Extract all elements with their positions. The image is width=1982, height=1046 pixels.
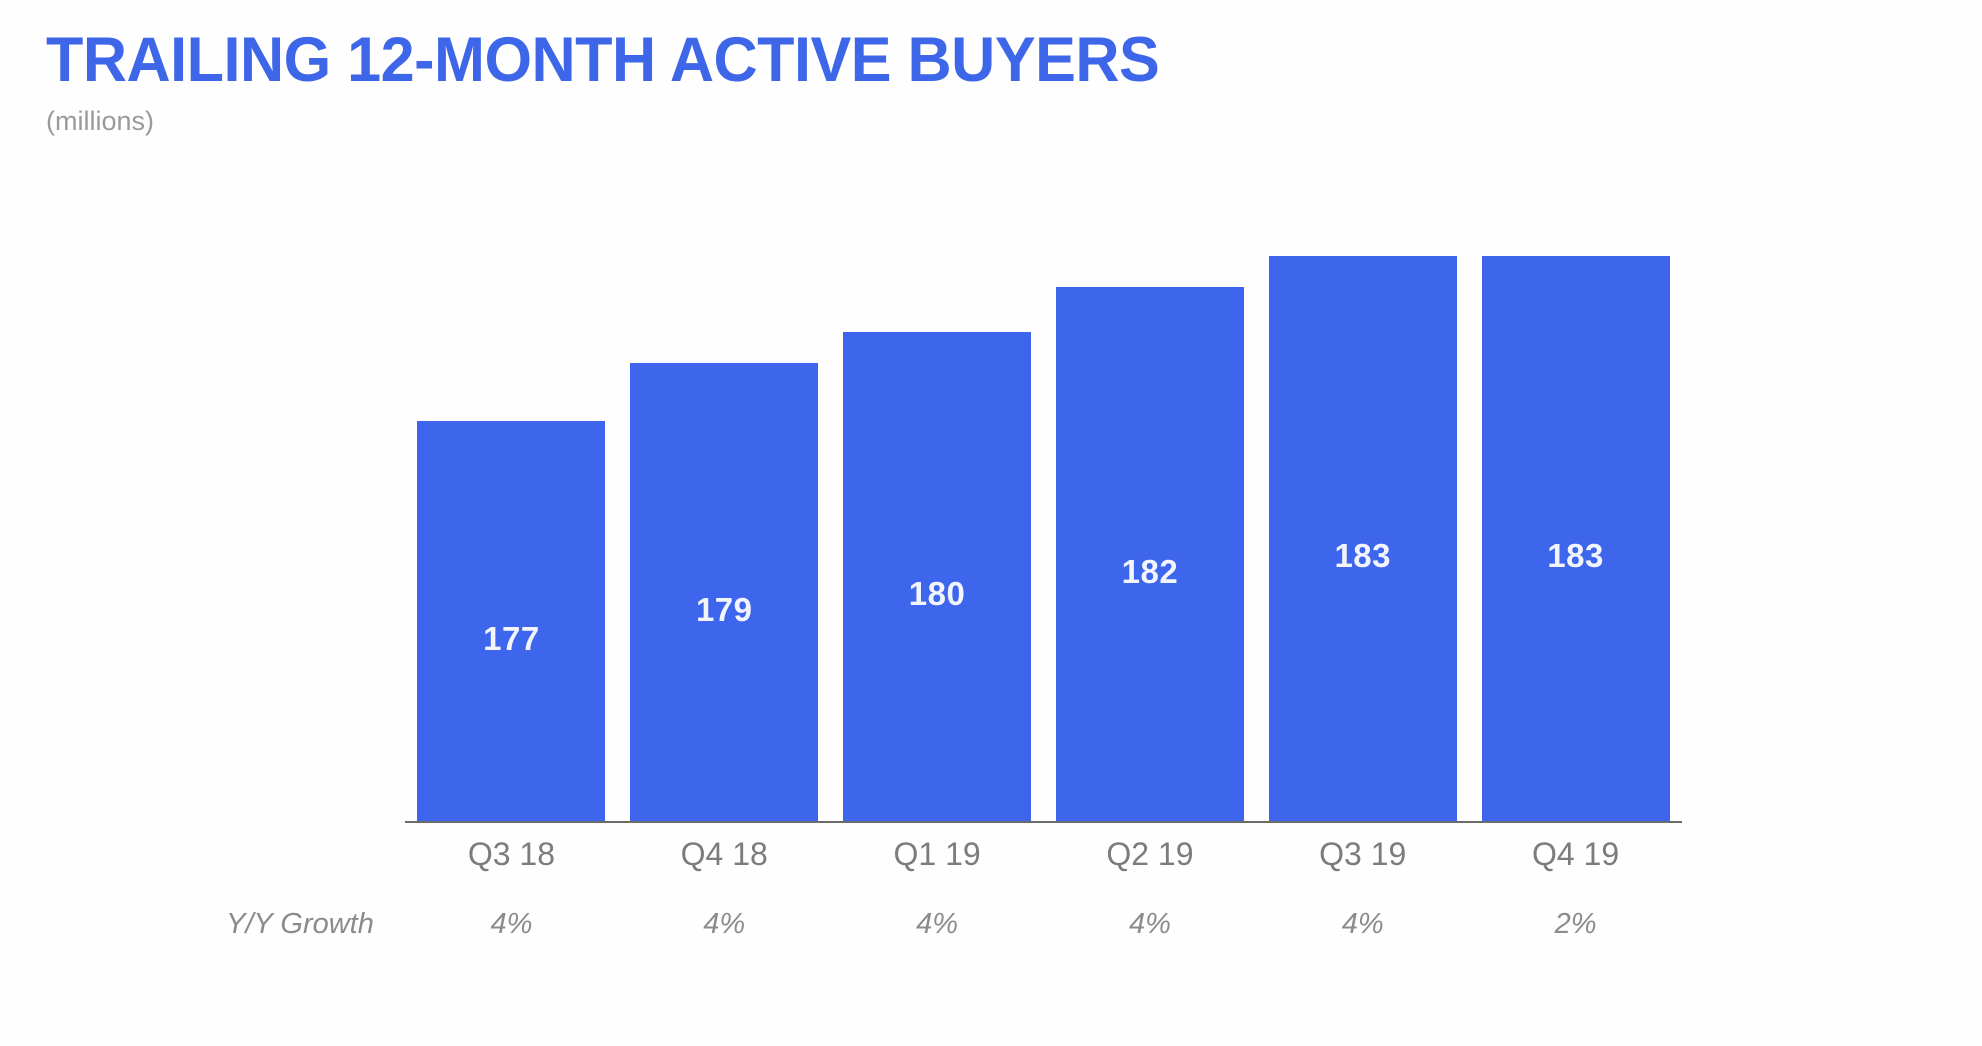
chart-subtitle: (millions) xyxy=(46,104,1846,138)
bar[interactable]: 179 xyxy=(630,363,818,822)
bar-value-label: 183 xyxy=(1482,539,1670,572)
growth-value: 4% xyxy=(831,905,1044,943)
bar-value-label: 182 xyxy=(1056,555,1244,588)
x-axis-tick-label: Q4 19 xyxy=(1469,834,1682,874)
bar[interactable]: 183 xyxy=(1482,256,1670,822)
growth-value: 4% xyxy=(618,905,831,943)
bar-slot: 183 xyxy=(1256,160,1469,822)
chart-header: TRAILING 12-MONTH ACTIVE BUYERS (million… xyxy=(46,24,1846,138)
x-axis-tick-label: Q1 19 xyxy=(831,834,1044,874)
bar-value-label: 179 xyxy=(630,593,818,626)
bar[interactable]: 180 xyxy=(843,332,1031,822)
x-axis-tick-label: Q3 18 xyxy=(405,834,618,874)
bar-value-label: 183 xyxy=(1269,539,1457,572)
x-axis-labels: Q3 18 Q4 18 Q1 19 Q2 19 Q3 19 Q4 19 xyxy=(405,834,1682,874)
bar-slot: 180 xyxy=(831,160,1044,822)
bar[interactable]: 182 xyxy=(1056,287,1244,822)
bar[interactable]: 183 xyxy=(1269,256,1457,822)
bar-slot: 183 xyxy=(1469,160,1682,822)
growth-value: 4% xyxy=(1256,905,1469,943)
bar[interactable]: 177 xyxy=(417,421,605,822)
page-title: TRAILING 12-MONTH ACTIVE BUYERS xyxy=(46,24,1792,96)
bar-series: 177 179 180 182 183 xyxy=(405,160,1682,822)
bar-value-label: 180 xyxy=(843,577,1031,610)
slide-canvas: TRAILING 12-MONTH ACTIVE BUYERS (million… xyxy=(0,0,1982,1046)
x-axis-line xyxy=(405,821,1682,823)
bar-slot: 179 xyxy=(618,160,831,822)
bar-slot: 182 xyxy=(1043,160,1256,822)
x-axis-tick-label: Q4 18 xyxy=(618,834,831,874)
bar-value-label: 177 xyxy=(417,622,605,655)
x-axis-tick-label: Q3 19 xyxy=(1256,834,1469,874)
growth-value: 2% xyxy=(1469,905,1682,943)
bar-slot: 177 xyxy=(405,160,618,822)
growth-value: 4% xyxy=(405,905,618,943)
growth-row-label: Y/Y Growth xyxy=(200,905,400,943)
plot-area: 177 179 180 182 183 xyxy=(405,160,1682,822)
growth-row-values: 4% 4% 4% 4% 4% 2% xyxy=(405,905,1682,943)
growth-value: 4% xyxy=(1043,905,1256,943)
x-axis-tick-label: Q2 19 xyxy=(1043,834,1256,874)
